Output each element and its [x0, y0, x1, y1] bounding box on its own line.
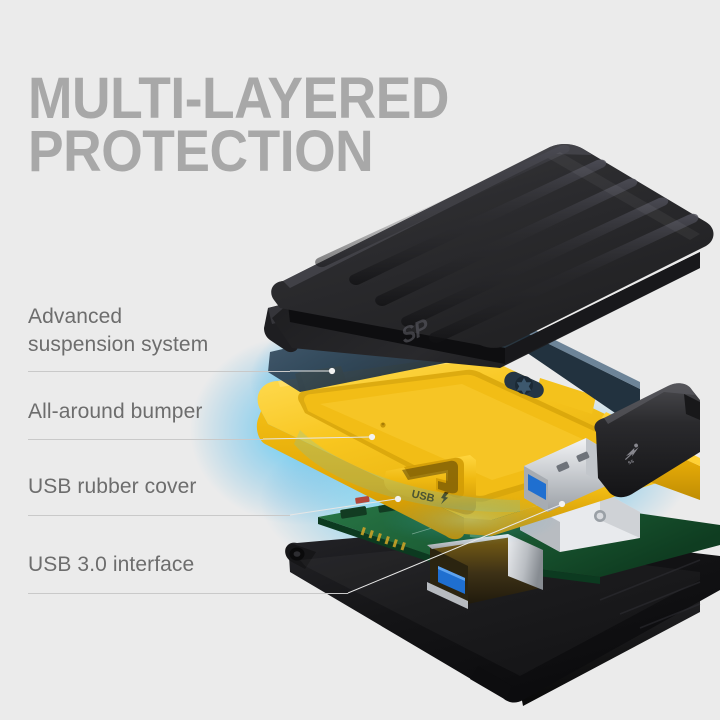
- feature-divider: [28, 371, 290, 372]
- feature-item-usb-30-interface: USB 3.0 interface: [28, 551, 194, 579]
- feature-label: USB 3.0 interface: [28, 551, 194, 579]
- feature-label: Advanced suspension system: [28, 303, 208, 358]
- feature-item-advanced-suspension: Advanced suspension system: [28, 303, 208, 358]
- product-feature-graphic: USB: [0, 0, 720, 720]
- feature-divider: [28, 439, 263, 440]
- feature-label: USB rubber cover: [28, 473, 197, 501]
- feature-divider: [28, 593, 348, 594]
- feature-list: Advanced suspension system All-around bu…: [0, 0, 720, 720]
- feature-divider: [28, 515, 290, 516]
- feature-label: All-around bumper: [28, 398, 202, 426]
- feature-item-usb-rubber-cover: USB rubber cover: [28, 473, 197, 501]
- feature-item-all-around-bumper: All-around bumper: [28, 398, 202, 426]
